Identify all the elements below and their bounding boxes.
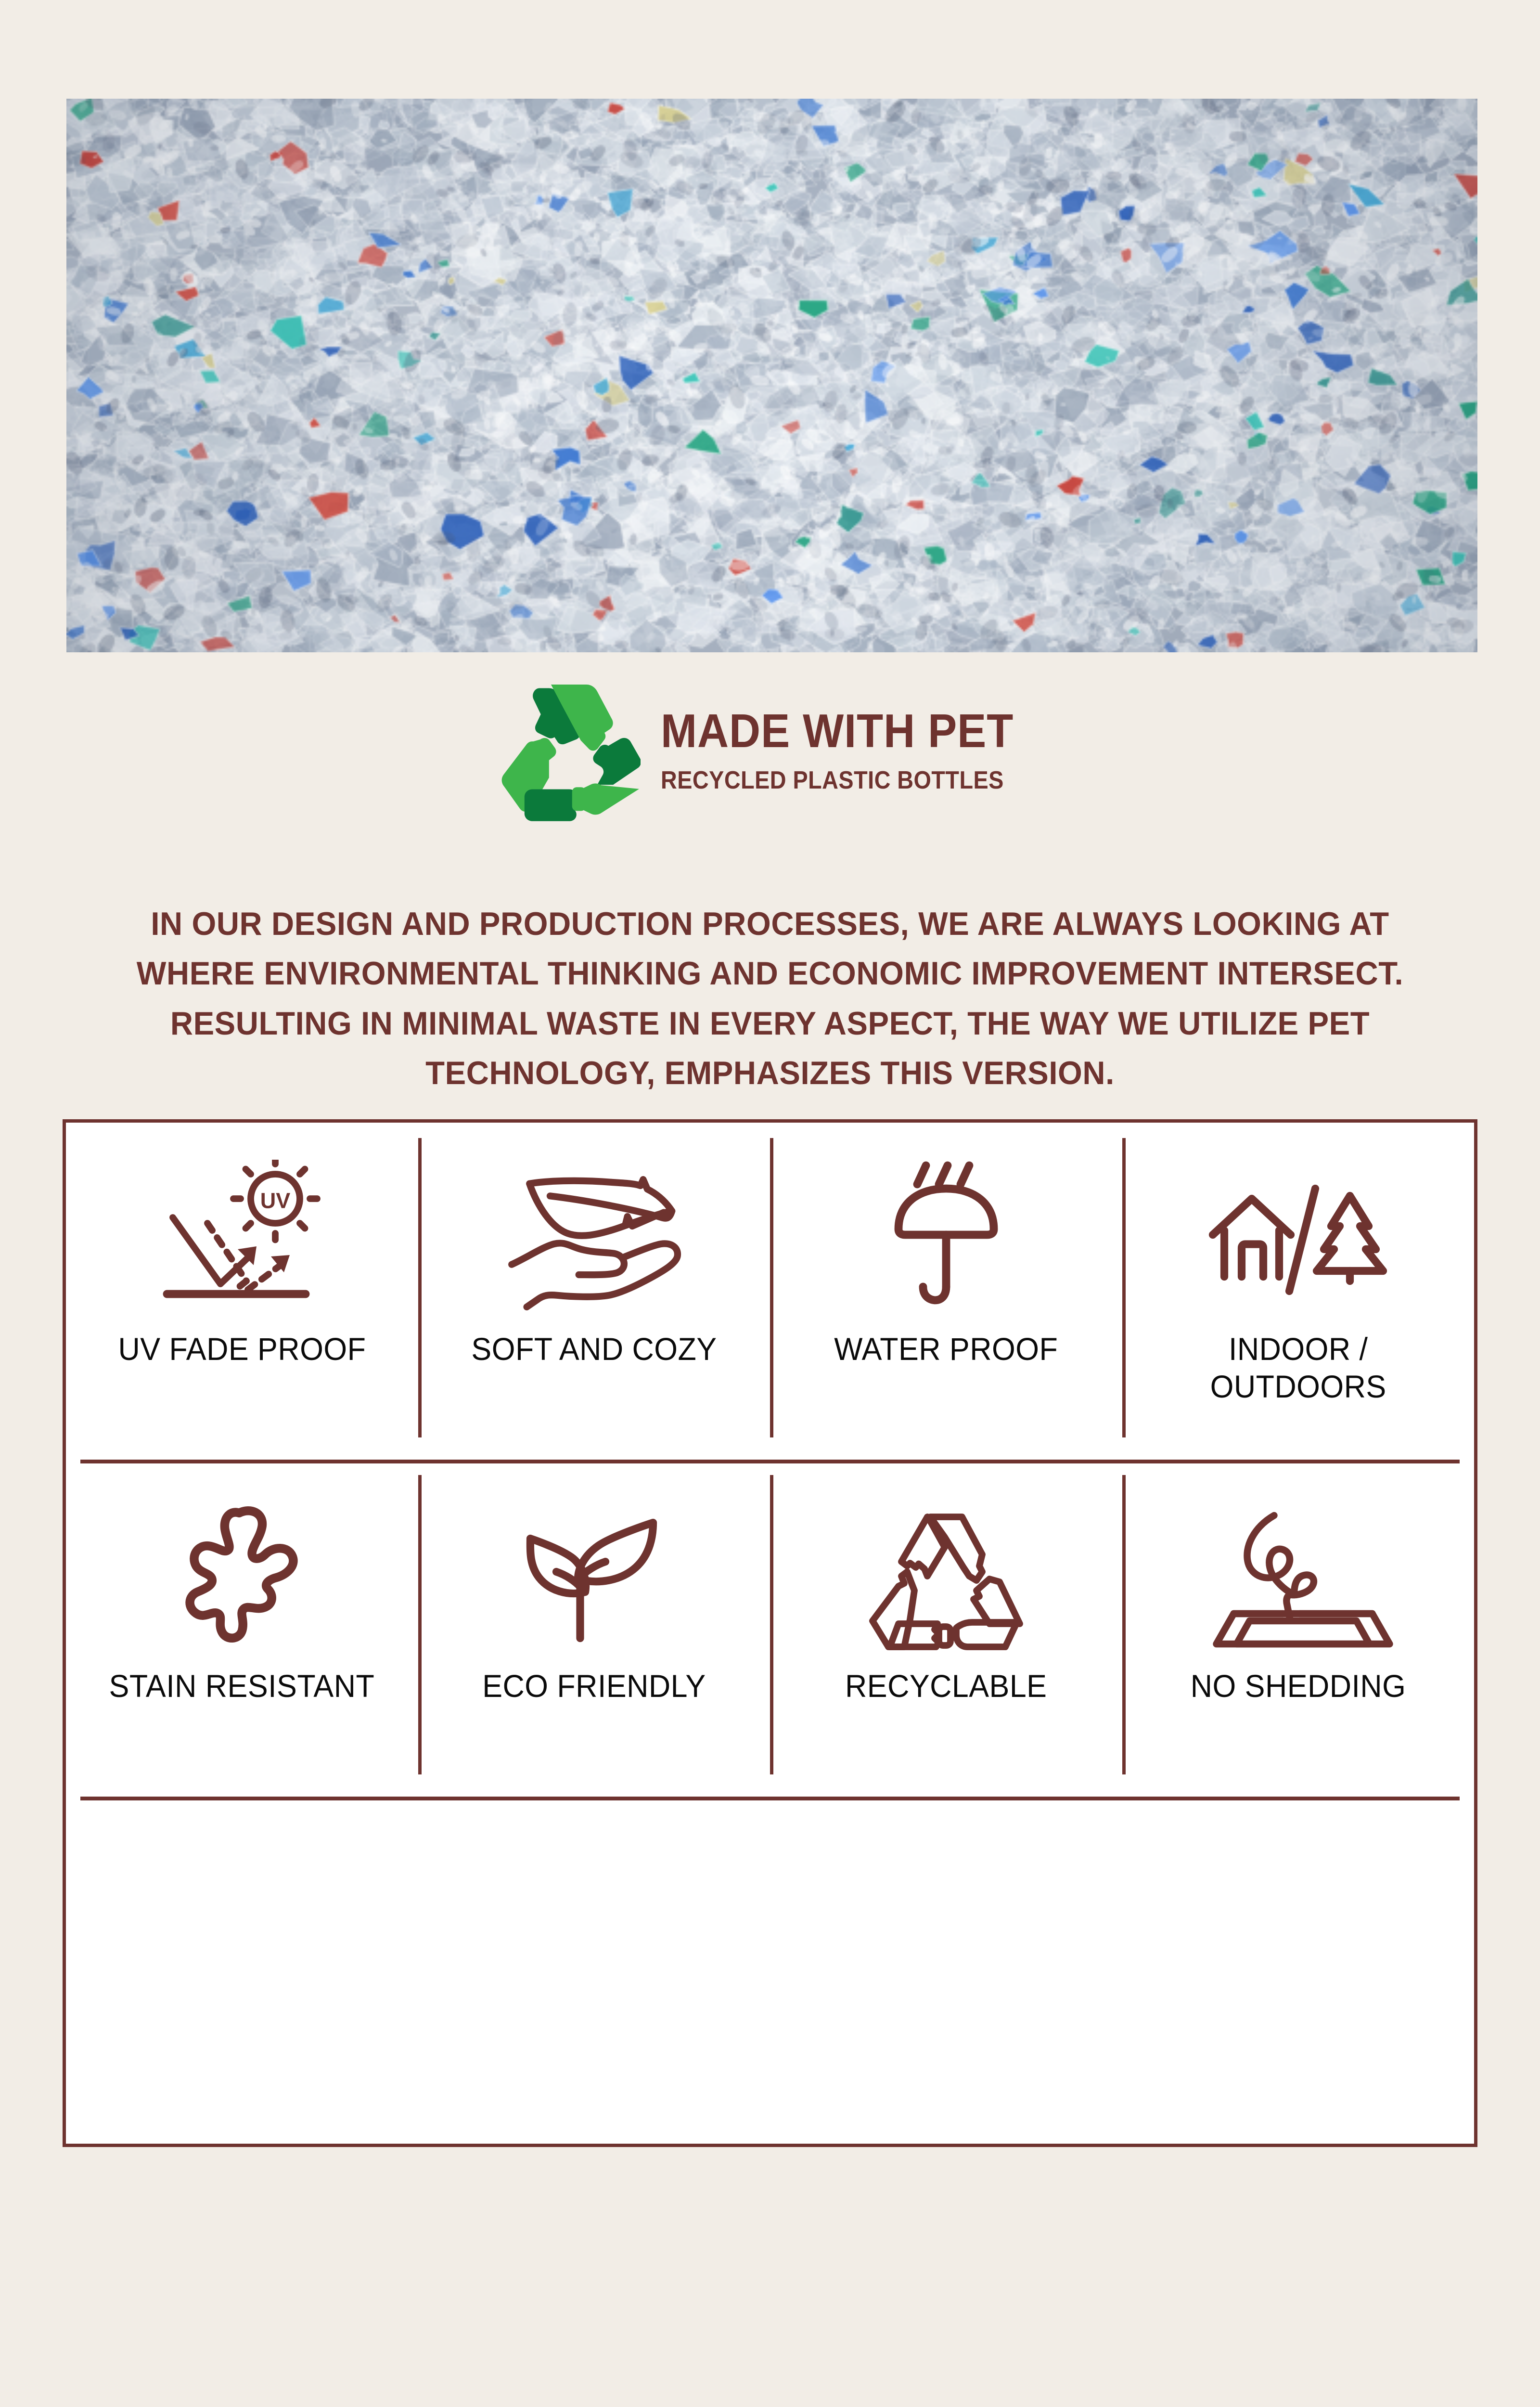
benefit-cell-uv-fade-proof[interactable]: UV (66, 1123, 418, 1460)
plastic-flakes-photo (66, 99, 1477, 652)
house-tree-icon (1204, 1152, 1392, 1326)
benefit-label: UV FADE PROOF (118, 1331, 366, 1368)
benefits-panel: UV (63, 1119, 1477, 2147)
benefit-cell-soft-and-cozy[interactable]: SOFT AND COZY (418, 1123, 770, 1460)
benefit-cell-recyclable[interactable]: RECYCLABLE (770, 1460, 1122, 1797)
benefit-label: STAIN RESISTANT (109, 1668, 375, 1705)
benefit-label: RECYCLABLE (845, 1668, 1047, 1705)
lockup-title: MADE WITH PET (661, 707, 1014, 755)
benefit-label: ECO FRIENDLY (482, 1668, 706, 1705)
benefit-label: INDOOR / OUTDOORS (1210, 1331, 1386, 1406)
hero-photo (66, 99, 1477, 652)
brand-lockup: MADE WITH PET RECYCLED PLASTIC BOTTLES (0, 679, 1540, 823)
recycle-bottles-icon (496, 679, 641, 823)
benefits-row-1: UV (66, 1123, 1474, 1460)
recycle-bottle-outline-icon (867, 1489, 1026, 1663)
benefit-label: SOFT AND COZY (471, 1331, 717, 1368)
lockup-subtitle: RECYCLED PLASTIC BOTTLES (661, 766, 1006, 795)
lockup-text-block: MADE WITH PET RECYCLED PLASTIC BOTTLES (661, 707, 1044, 795)
benefit-cell-water-proof[interactable]: WATER PROOF (770, 1123, 1122, 1460)
benefit-label: WATER PROOF (834, 1331, 1058, 1368)
benefit-cell-indoor-outdoors[interactable]: INDOOR / OUTDOORS (1122, 1123, 1475, 1460)
intro-paragraph: IN OUR DESIGN AND PRODUCTION PROCESSES, … (100, 899, 1440, 1098)
svg-text:UV: UV (260, 1189, 290, 1213)
benefits-row-2: STAIN RESISTANT ECO FRIENDLY (66, 1460, 1474, 1797)
benefit-cell-stain-resistant[interactable]: STAIN RESISTANT (66, 1460, 418, 1797)
benefit-cell-no-shedding[interactable]: NO SHEDDING (1122, 1460, 1475, 1797)
stain-splat-icon (175, 1489, 309, 1663)
leaf-sprout-icon (517, 1489, 671, 1663)
rug-fiber-thread-icon (1202, 1489, 1394, 1663)
umbrella-rain-icon (874, 1152, 1018, 1326)
feather-on-hand-icon (505, 1152, 683, 1326)
uv-fade-proof-icon: UV (155, 1152, 329, 1326)
benefit-cell-eco-friendly[interactable]: ECO FRIENDLY (418, 1460, 770, 1797)
benefit-label: NO SHEDDING (1190, 1668, 1406, 1705)
